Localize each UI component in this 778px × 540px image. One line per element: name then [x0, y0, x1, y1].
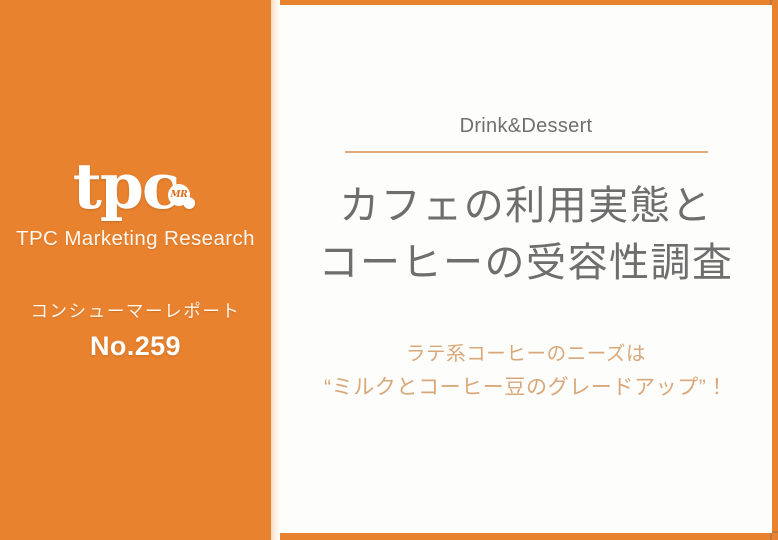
frame-border-right [772, 0, 778, 540]
tpc-logo: tpc. MR [0, 158, 271, 216]
company-name: TPC Marketing Research [16, 227, 255, 251]
page-subtitle-line-1: ラテ系コーヒーのニーズは [324, 339, 728, 371]
page-title-line-2: コーヒーの受容性調査 [319, 235, 734, 292]
panel-divider [271, 0, 280, 540]
report-series-label: コンシューマーレポート [30, 298, 240, 323]
page-title-line-1: カフェの利用実態と [319, 178, 734, 235]
brand-sidebar: tpc. MR TPC Marketing Research コンシューマーレポ… [0, 0, 271, 540]
cover-content: Drink&Dessert カフェの利用実態と コーヒーの受容性調査 ラテ系コー… [280, 5, 772, 533]
report-cover-slide: tpc. MR TPC Marketing Research コンシューマーレポ… [0, 0, 778, 540]
mr-circle-badge-icon: MR [168, 184, 190, 206]
report-number: No.259 [90, 331, 181, 362]
page-subtitle: ラテ系コーヒーのニーズは “ミルクとコーヒー豆のグレードアップ”！ [324, 339, 728, 405]
category-divider-rule [345, 151, 708, 153]
category-label: Drink&Dessert [460, 115, 593, 138]
page-title: カフェの利用実態と コーヒーの受容性調査 [319, 178, 734, 292]
page-subtitle-line-2: “ミルクとコーヒー豆のグレードアップ”！ [324, 371, 728, 405]
